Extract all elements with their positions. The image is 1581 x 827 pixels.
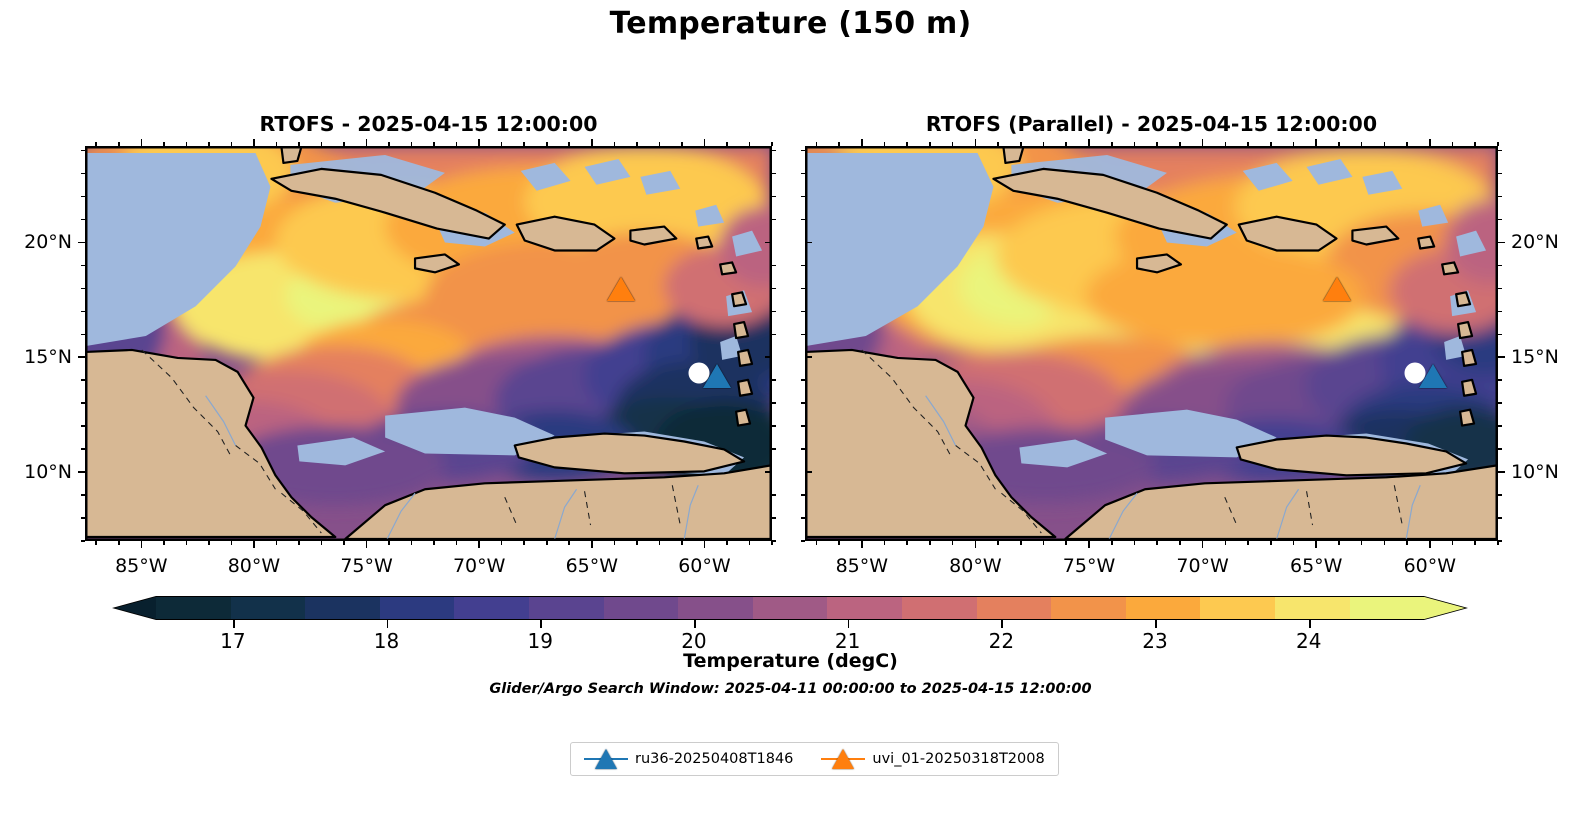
x-tick [704,541,706,548]
x-tick-top [478,139,480,146]
y-minor-tick [772,311,776,313]
y-minor-tick [772,425,776,427]
marker-ru36-right[interactable] [1419,364,1447,388]
x-minor-tick [1156,541,1158,545]
x-minor-tick [456,541,458,545]
colorbar-tick [1309,620,1311,628]
x-tick-top [1088,139,1090,146]
marker-uvi-01-left[interactable] [607,277,635,301]
legend[interactable]: ru36-20250408T1846uvi_01-20250318T2008 [570,742,1059,776]
y-minor-tick [772,517,776,519]
x-minor-tick [726,541,728,545]
x-tick-label: 70°W [453,555,505,577]
x-tick [591,541,593,548]
y-minor-tick [772,288,776,290]
x-tick-label: 85°W [115,555,167,577]
x-minor-tick [749,541,751,545]
x-tick [975,541,977,548]
x-minor-tick [1134,541,1136,545]
x-minor-tick [771,541,773,545]
x-minor-tick [1338,541,1340,545]
y-tick [78,471,85,473]
colorbar-tick [694,620,696,628]
colorbar-segment [1126,597,1201,619]
y-tick-label: 20°N [1511,231,1559,253]
x-minor-tick [1111,541,1113,545]
x-minor-tick [1043,541,1045,545]
x-minor-tick [659,541,661,545]
x-tick-top [1202,139,1204,146]
x-tick [1429,541,1431,548]
x-tick-top [975,139,977,146]
colorbar-segment [454,597,529,619]
x-minor-tick [433,541,435,545]
marker-uvi-01-right[interactable] [1323,277,1351,301]
legend-triangle [595,749,617,769]
colorbar-tick [387,620,389,628]
y-minor-tick [1498,196,1502,198]
colorbar-segment [529,597,604,619]
x-minor-tick [614,541,616,545]
colorbar-tick [848,620,850,628]
x-tick-top [704,139,706,146]
x-minor-tick [816,541,818,545]
colorbar-segment [305,597,380,619]
x-tick-label: 70°W [1176,555,1228,577]
y-tick [1498,242,1505,244]
page-title: Temperature (150 m) [0,6,1581,41]
colorbar-segment [1275,597,1350,619]
y-minor-tick [1498,288,1502,290]
y-minor-tick [772,540,776,542]
x-tick [1315,541,1317,548]
x-minor-tick [388,541,390,545]
colorbar-segment [827,597,902,619]
y-minor-tick [772,494,776,496]
figure-root: Temperature (150 m) RTOFS - 2025-04-15 1… [0,0,1581,827]
colorbar-tick [1155,620,1157,628]
x-minor-tick [1384,541,1386,545]
y-minor-tick [772,196,776,198]
colorbar-tick [233,620,235,628]
colorbar-segment [156,597,231,619]
x-minor-tick [1225,541,1227,545]
x-minor-tick [884,541,886,545]
colorbar-segment [1350,597,1425,619]
colorbar-extend-low [115,597,156,619]
y-minor-tick [1498,334,1502,336]
x-minor-tick [523,541,525,545]
x-tick [366,541,368,548]
x-tick-label: 60°W [678,555,730,577]
map-field-left [86,147,771,540]
x-minor-tick [929,541,931,545]
y-minor-tick [772,219,776,221]
colorbar-segment [231,597,306,619]
x-tick-label: 60°W [1404,555,1456,577]
x-tick-top [253,139,255,146]
legend-marker-triangle-icon [821,746,865,772]
x-minor-tick [501,541,503,545]
colorbar-segment [902,597,977,619]
colorbar-tick [1001,620,1003,628]
y-minor-tick [1498,494,1502,496]
x-tick [253,541,255,548]
colorbar-segment [977,597,1052,619]
y-tick [1498,356,1505,358]
colorbar-gradient [156,596,1424,620]
panel-title-right: RTOFS (Parallel) - 2025-04-15 12:00:00 [805,112,1498,136]
x-minor-tick [163,541,165,545]
x-minor-tick [1020,541,1022,545]
colorbar-segment [1051,597,1126,619]
x-tick-top [861,139,863,146]
legend-entry[interactable]: ru36-20250408T1846 [584,746,793,772]
x-tick [1088,541,1090,548]
marker-ru36-left[interactable] [703,364,731,388]
y-tick [1498,471,1505,473]
y-tick-label: 10°N [1511,461,1559,483]
search-window-subtitle: Glider/Argo Search Window: 2025-04-11 00… [0,681,1581,697]
x-tick [861,541,863,548]
x-minor-tick [343,541,345,545]
x-tick-label: 80°W [228,555,280,577]
legend-triangle [832,749,854,769]
x-tick [1202,541,1204,548]
x-minor-tick [321,541,323,545]
y-minor-tick [772,402,776,404]
x-minor-tick [118,541,120,545]
y-minor-tick [1498,150,1502,152]
legend-entry[interactable]: uvi_01-20250318T2008 [821,746,1044,772]
legend-label: uvi_01-20250318T2008 [872,751,1044,767]
y-minor-tick [772,334,776,336]
colorbar-segment [678,597,753,619]
y-minor-tick [1498,219,1502,221]
x-minor-tick [1293,541,1295,545]
x-tick-label: 75°W [340,555,392,577]
x-tick-top [141,139,143,146]
y-tick-label: 15°N [1511,346,1559,368]
x-tick-label: 65°W [566,555,618,577]
x-minor-tick [186,541,188,545]
colorbar-segment [1200,597,1275,619]
map-panel-right[interactable] [805,146,1498,541]
panel-title-left: RTOFS - 2025-04-15 12:00:00 [85,112,772,136]
colorbar[interactable] [112,596,1468,620]
colorbar-title: Temperature (degC) [0,650,1581,672]
colorbar-segment [604,597,679,619]
x-minor-tick [276,541,278,545]
y-minor-tick [1498,540,1502,542]
x-minor-tick [906,541,908,545]
y-minor-tick [772,265,776,267]
x-minor-tick [636,541,638,545]
x-minor-tick [952,541,954,545]
x-minor-tick [546,541,548,545]
map-field-right [806,147,1497,540]
x-minor-tick [838,541,840,545]
legend-label: ru36-20250408T1846 [635,751,793,767]
x-minor-tick [1270,541,1272,545]
x-minor-tick [208,541,210,545]
x-minor-tick [411,541,413,545]
y-minor-tick [1498,517,1502,519]
y-tick-label: 20°N [0,231,72,253]
colorbar-ticks: 1718192021222324 [112,620,1468,654]
legend-marker-triangle-icon [584,746,628,772]
x-minor-tick [1452,541,1454,545]
x-tick-top [366,139,368,146]
x-tick-top [1315,139,1317,146]
colorbar-segment [380,597,455,619]
x-minor-tick [1474,541,1476,545]
colorbar-extend-high [1424,597,1465,619]
x-tick-top [1429,139,1431,146]
y-tick [78,242,85,244]
y-tick-label: 10°N [0,461,72,483]
y-minor-tick [1498,402,1502,404]
x-tick-label: 65°W [1290,555,1342,577]
x-tick-label: 85°W [836,555,888,577]
x-tick-top [591,139,593,146]
x-tick-label: 80°W [949,555,1001,577]
colorbar-tick [540,620,542,628]
x-minor-tick [1497,541,1499,545]
x-tick [478,541,480,548]
x-tick [141,541,143,548]
x-minor-tick [568,541,570,545]
y-minor-tick [1498,448,1502,450]
y-minor-tick [772,448,776,450]
y-minor-tick [1498,173,1502,175]
y-minor-tick [1498,265,1502,267]
x-minor-tick [231,541,233,545]
x-minor-tick [1247,541,1249,545]
x-minor-tick [298,541,300,545]
y-minor-tick [1498,311,1502,313]
y-minor-tick [1498,425,1502,427]
x-minor-tick [95,541,97,545]
map-panel-left[interactable] [85,146,772,541]
x-minor-tick [1065,541,1067,545]
y-minor-tick [772,150,776,152]
y-tick [78,356,85,358]
x-minor-tick [1406,541,1408,545]
x-tick-label: 75°W [1063,555,1115,577]
colorbar-segment [753,597,828,619]
y-minor-tick [772,379,776,381]
x-minor-tick [1179,541,1181,545]
y-minor-tick [772,173,776,175]
y-tick-label: 15°N [0,346,72,368]
x-minor-tick [1361,541,1363,545]
y-minor-tick [1498,379,1502,381]
x-minor-tick [681,541,683,545]
x-minor-tick [997,541,999,545]
